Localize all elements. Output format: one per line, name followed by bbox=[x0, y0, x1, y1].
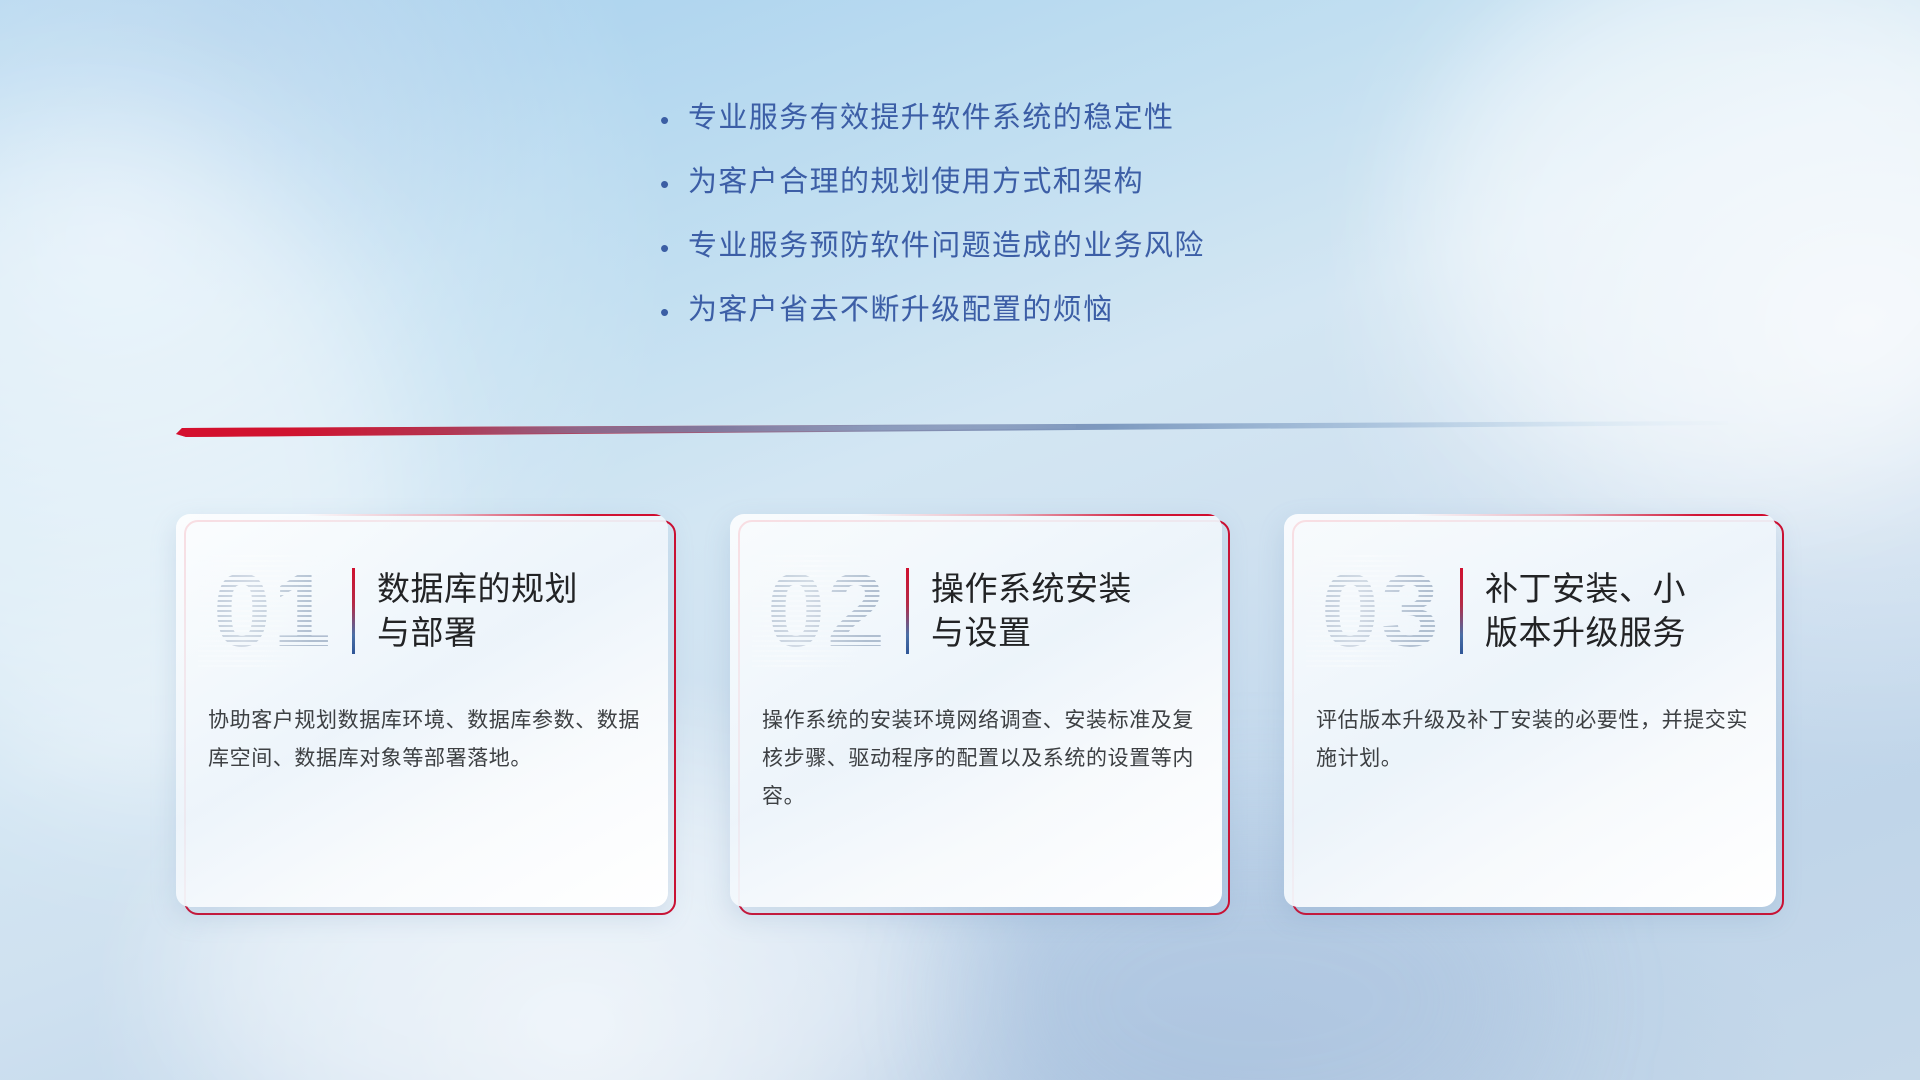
card-description: 协助客户规划数据库环境、数据库参数、数据库空间、数据库对象等部署落地。 bbox=[208, 702, 642, 778]
card-title: 补丁安装、小 版本升级服务 bbox=[1485, 567, 1776, 655]
bullet-text: 为客户合理的规划使用方式和架构 bbox=[688, 164, 1144, 200]
benefits-bullet-list: • 专业服务有效提升软件系统的稳定性 • 为客户合理的规划使用方式和架构 • 专… bbox=[660, 100, 1300, 356]
card-title-rule bbox=[906, 568, 909, 654]
card-description: 操作系统的安装环境网络调查、安装标准及复核步骤、驱动程序的配置以及系统的设置等内… bbox=[762, 702, 1196, 816]
bullet-text: 专业服务预防软件问题造成的业务风险 bbox=[688, 228, 1205, 264]
card-surface: 02 操作系统安装 与设置 操作系统的安装环境网络调查、安装标准及复核步骤、驱动… bbox=[730, 514, 1222, 907]
bullet-text: 专业服务有效提升软件系统的稳定性 bbox=[688, 100, 1174, 136]
card-title-rule bbox=[1460, 568, 1463, 654]
card-header: 03 补丁安装、小 版本升级服务 bbox=[1284, 552, 1776, 670]
card-title-line: 版本升级服务 bbox=[1485, 611, 1760, 655]
card-index-number: 01 bbox=[198, 555, 348, 667]
list-item: • 专业服务有效提升软件系统的稳定性 bbox=[660, 100, 1300, 164]
bullet-dot-icon: • bbox=[660, 100, 688, 138]
card-top-accent-line bbox=[1284, 514, 1776, 516]
service-card-row: 01 数据库的规划 与部署 协助客户规划数据库环境、数据库参数、数据库空间、数据… bbox=[176, 514, 1776, 914]
card-header: 01 数据库的规划 与部署 bbox=[176, 552, 668, 670]
list-item: • 为客户合理的规划使用方式和架构 bbox=[660, 164, 1300, 228]
card-index-number: 02 bbox=[752, 555, 902, 667]
service-card-03[interactable]: 03 补丁安装、小 版本升级服务 评估版本升级及补丁安装的必要性，并提交实施计划… bbox=[1284, 514, 1776, 909]
card-title: 数据库的规划 与部署 bbox=[377, 567, 668, 655]
card-index-number: 03 bbox=[1306, 555, 1456, 667]
bullet-text: 为客户省去不断升级配置的烦恼 bbox=[688, 292, 1114, 328]
card-description: 评估版本升级及补丁安装的必要性，并提交实施计划。 bbox=[1316, 702, 1750, 778]
card-surface: 01 数据库的规划 与部署 协助客户规划数据库环境、数据库参数、数据库空间、数据… bbox=[176, 514, 668, 907]
card-surface: 03 补丁安装、小 版本升级服务 评估版本升级及补丁安装的必要性，并提交实施计划… bbox=[1284, 514, 1776, 907]
card-top-accent-line bbox=[730, 514, 1222, 516]
card-title-line: 数据库的规划 bbox=[377, 567, 652, 611]
service-card-01[interactable]: 01 数据库的规划 与部署 协助客户规划数据库环境、数据库参数、数据库空间、数据… bbox=[176, 514, 668, 909]
card-title-line: 补丁安装、小 bbox=[1485, 567, 1760, 611]
card-title-line: 操作系统安装 bbox=[931, 567, 1206, 611]
bullet-dot-icon: • bbox=[660, 292, 688, 330]
list-item: • 为客户省去不断升级配置的烦恼 bbox=[660, 292, 1300, 356]
list-item: • 专业服务预防软件问题造成的业务风险 bbox=[660, 228, 1300, 292]
service-card-02[interactable]: 02 操作系统安装 与设置 操作系统的安装环境网络调查、安装标准及复核步骤、驱动… bbox=[730, 514, 1222, 909]
card-top-accent-line bbox=[176, 514, 668, 516]
card-title: 操作系统安装 与设置 bbox=[931, 567, 1222, 655]
card-header: 02 操作系统安装 与设置 bbox=[730, 552, 1222, 670]
card-title-line: 与设置 bbox=[931, 611, 1206, 655]
card-title-line: 与部署 bbox=[377, 611, 652, 655]
bullet-dot-icon: • bbox=[660, 228, 688, 266]
slide-canvas: • 专业服务有效提升软件系统的稳定性 • 为客户合理的规划使用方式和架构 • 专… bbox=[0, 0, 1920, 1080]
card-title-rule bbox=[352, 568, 355, 654]
section-divider bbox=[176, 420, 1728, 442]
bullet-dot-icon: • bbox=[660, 164, 688, 202]
